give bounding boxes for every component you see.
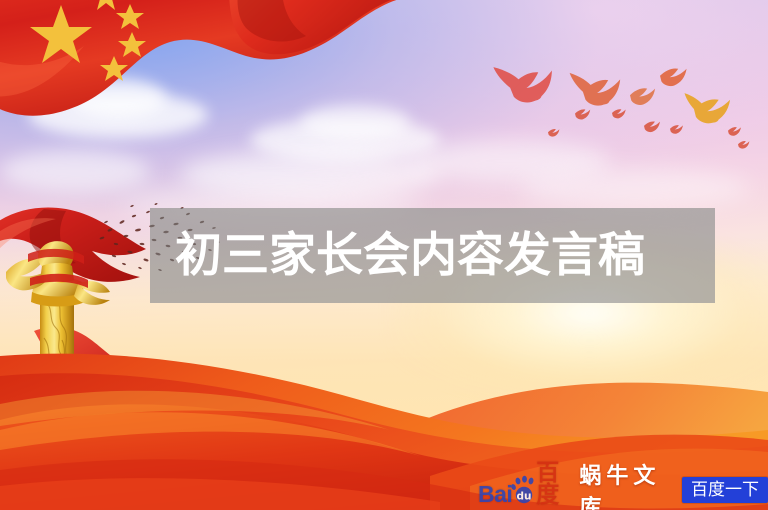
cloud: [520, 168, 750, 208]
site-name: 蜗牛文库: [579, 458, 672, 510]
baidu-logo-chinese: 百度: [536, 461, 567, 505]
baidu-paw-icon: du: [509, 475, 539, 505]
cloud: [0, 150, 150, 192]
chinese-national-flag: [0, 0, 414, 150]
svg-text:du: du: [517, 490, 532, 502]
baidu-search-button[interactable]: 百度一下: [682, 477, 768, 503]
watermark-bar: Bai du 百度 蜗牛文库 百度一下: [478, 474, 768, 506]
page-title: 初三家长会内容发言稿: [175, 224, 735, 288]
baidu-logo-bai: Bai: [478, 483, 512, 505]
baidu-logo: Bai du 百度: [478, 475, 567, 505]
banner-image: 初三家长会内容发言稿 Bai du 百度 蜗牛文库 百度一下: [0, 0, 768, 510]
